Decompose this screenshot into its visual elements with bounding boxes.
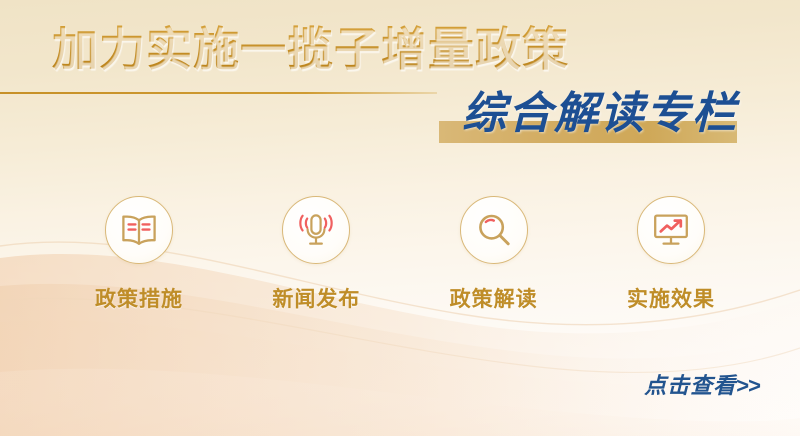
click-to-view-link[interactable]: 点击查看>> <box>644 368 760 400</box>
open-book-icon <box>119 213 159 247</box>
nav-item-news-release[interactable]: 新闻发布 <box>247 196 385 326</box>
cta-label: 点击查看 <box>644 373 736 398</box>
nav-label-policy-measures: 政策措施 <box>95 283 183 313</box>
cta-arrows-icon: >> <box>736 373 760 398</box>
chart-monitor-icon <box>651 212 691 248</box>
nav-icon-row: 政策措施 新闻发布 <box>70 196 740 326</box>
policy-column-banner: 加力实施一揽子增量政策 综合解读专栏 政策措施 <box>0 0 800 436</box>
icon-circle-policy-interpretation[interactable] <box>460 196 528 264</box>
headline-secondary-group: 综合解读专栏 <box>415 86 760 148</box>
nav-label-news-release: 新闻发布 <box>272 283 360 313</box>
magnifier-icon <box>474 210 514 250</box>
icon-circle-news-release[interactable] <box>282 196 350 264</box>
headline-primary: 加力实施一揽子增量政策 <box>52 20 569 80</box>
nav-item-implementation-results[interactable]: 实施效果 <box>602 196 740 326</box>
nav-item-policy-interpretation[interactable]: 政策解读 <box>425 196 563 326</box>
icon-circle-implementation-results[interactable] <box>637 196 705 264</box>
nav-item-policy-measures[interactable]: 政策措施 <box>70 196 208 326</box>
microphone-icon <box>296 210 336 250</box>
icon-circle-policy-measures[interactable] <box>105 196 173 264</box>
headline-secondary: 综合解读专栏 <box>415 86 760 142</box>
gold-divider-line <box>0 92 437 94</box>
nav-label-policy-interpretation: 政策解读 <box>450 283 538 313</box>
nav-label-implementation-results: 实施效果 <box>627 283 715 313</box>
